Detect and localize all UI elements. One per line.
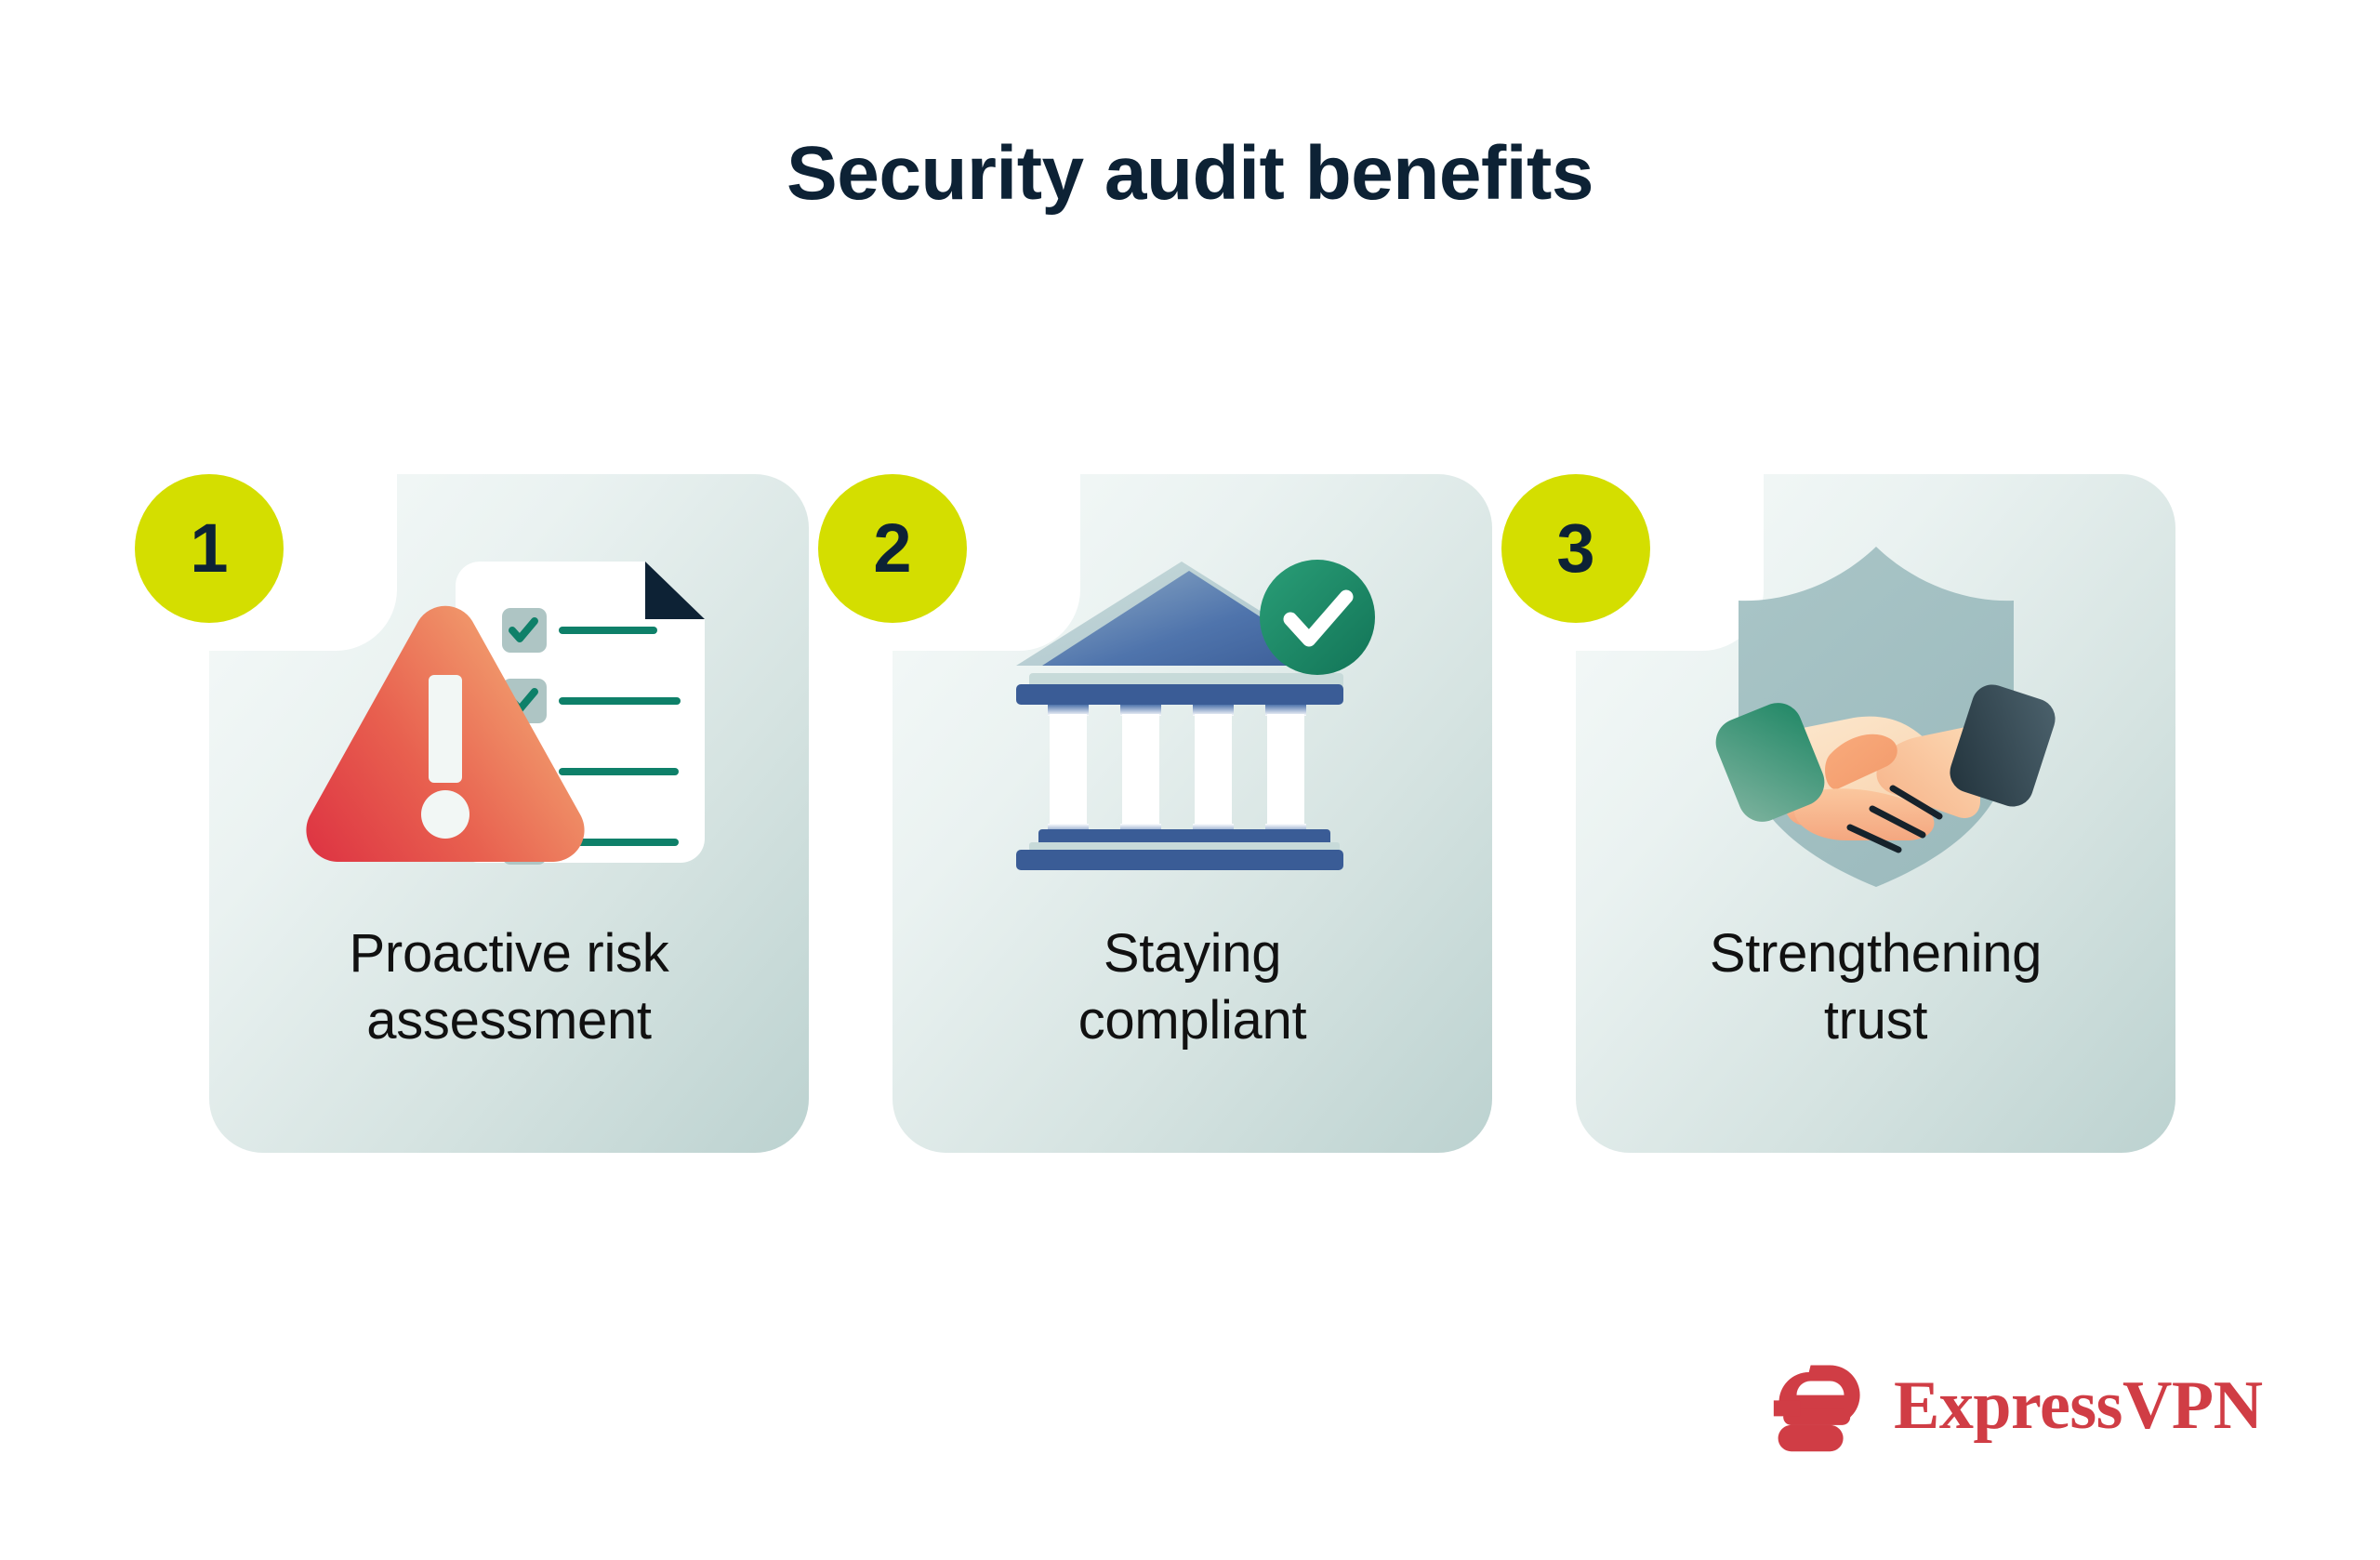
benefit-card-1-label-line1: Proactive risk <box>350 923 669 984</box>
benefit-card-2-label: Staying compliant <box>926 920 1459 1054</box>
card-number-badge-1: 1 <box>135 474 284 623</box>
shield-handshake-icon <box>1576 517 2175 907</box>
card-number-badge-3: 3 <box>1501 474 1650 623</box>
benefit-card-1-label: Proactive risk assessment <box>243 920 775 1054</box>
page-title: Security audit benefits <box>0 130 2380 218</box>
benefit-card-3-label-line1: Strengthening <box>1710 923 2042 984</box>
benefit-card-2[interactable]: 2 <box>892 474 1492 1153</box>
benefit-card-3-label: Strengthening trust <box>1609 920 2142 1054</box>
benefit-card-1-label-line2: assessment <box>366 990 651 1051</box>
benefit-card-3-label-line2: trust <box>1824 990 1927 1051</box>
expressvpn-wordmark: ExpressVPN <box>1894 1371 2263 1440</box>
benefit-cards-row: 1 <box>209 474 2175 1153</box>
expressvpn-logo: ExpressVPN <box>1771 1359 2263 1452</box>
warning-triangle-checklist-icon <box>209 517 809 907</box>
expressvpn-e-mark-icon <box>1771 1359 1870 1452</box>
benefit-card-2-label-line1: Staying <box>1104 923 1281 984</box>
courthouse-check-icon <box>892 517 1492 907</box>
benefit-card-2-label-line2: compliant <box>1078 990 1307 1051</box>
benefit-card-1[interactable]: 1 <box>209 474 809 1153</box>
card-number-badge-2: 2 <box>818 474 967 623</box>
benefit-card-3[interactable]: 3 <box>1576 474 2175 1153</box>
